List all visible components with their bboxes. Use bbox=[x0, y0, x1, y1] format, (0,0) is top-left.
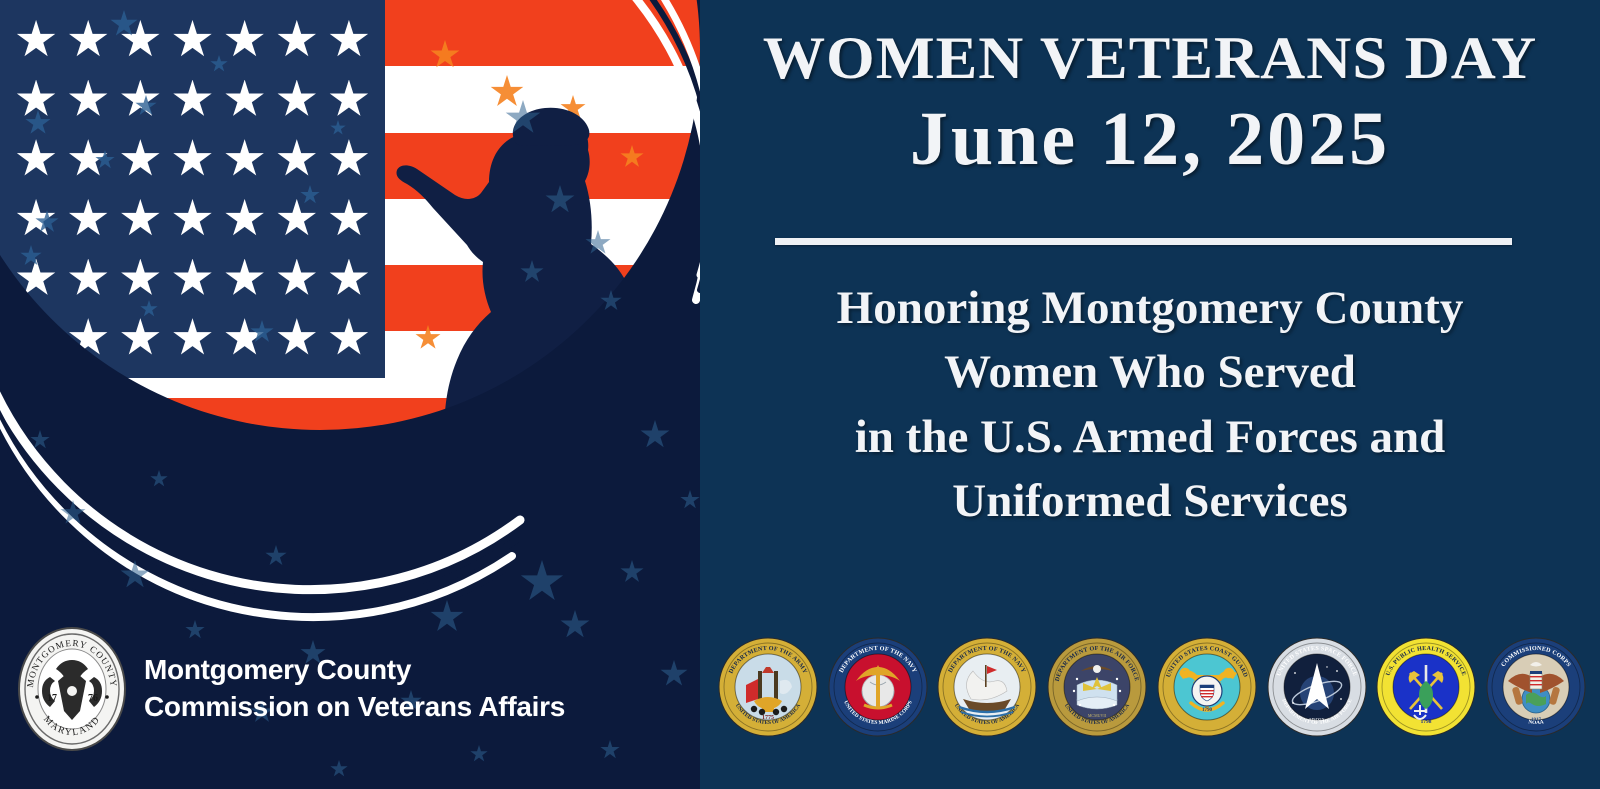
subheading: Honoring Montgomery County Women Who Ser… bbox=[710, 276, 1590, 534]
flag-star-icon bbox=[16, 139, 56, 179]
seal-coast-guard-icon: UNITED STATES COAST GUARD 1790 bbox=[1157, 637, 1257, 737]
flag-star-icon bbox=[68, 20, 108, 60]
event-date: June 12, 2025 bbox=[700, 96, 1600, 183]
ghost-star-icon bbox=[25, 110, 51, 136]
flag-star-icon bbox=[68, 259, 108, 299]
horizontal-divider bbox=[775, 238, 1512, 245]
flag-star-icon bbox=[277, 139, 317, 179]
montgomery-county-branding: MONTGOMERY COUNTY MARYLAND 17 76 bbox=[16, 625, 565, 753]
flag-star-icon bbox=[68, 80, 108, 120]
montgomery-county-seal-icon: MONTGOMERY COUNTY MARYLAND 17 76 bbox=[16, 625, 128, 753]
page-title: WOMEN VETERANS DAY bbox=[682, 24, 1600, 93]
ghost-star-icon bbox=[20, 245, 42, 267]
subheading-line-1: Honoring Montgomery County bbox=[710, 276, 1590, 340]
text-content-panel: WOMEN VETERANS DAY June 12, 2025 Honorin… bbox=[700, 0, 1600, 789]
flag-star-icon bbox=[277, 318, 317, 358]
ghost-star-icon bbox=[330, 120, 346, 136]
seal-public-health-service-icon: U.S. PUBLIC HEALTH SERVICE 1798 bbox=[1376, 637, 1476, 737]
flag-star-icon bbox=[173, 80, 213, 120]
svg-text:MMXIX: MMXIX bbox=[1309, 717, 1325, 722]
ghost-star-icon bbox=[300, 185, 320, 205]
flag-star-icon bbox=[277, 259, 317, 299]
flag-star-icon bbox=[68, 199, 108, 239]
svg-text:MCMUVII: MCMUVII bbox=[1088, 713, 1107, 718]
women-veterans-day-banner: MONTGOMERY COUNTY MARYLAND 17 76 bbox=[0, 0, 1600, 789]
decorative-star-icon bbox=[330, 760, 348, 778]
flag-star-icon bbox=[120, 318, 160, 358]
flag-star-icon bbox=[329, 80, 369, 120]
flag-star-icon bbox=[329, 139, 369, 179]
flag-star-icon bbox=[173, 259, 213, 299]
seal-year-left: 17 bbox=[47, 693, 57, 704]
flag-star-icon bbox=[277, 80, 317, 120]
seal-army-icon: DEPARTMENT OF THE ARMYUNITED STATES OF A… bbox=[718, 637, 818, 737]
flag-star-icon bbox=[173, 20, 213, 60]
svg-text:1775: 1775 bbox=[762, 715, 774, 721]
ghost-star-icon bbox=[110, 10, 138, 38]
decorative-star-icon bbox=[120, 560, 150, 590]
seal-air-force-icon: DEPARTMENT OF THE AIR FORCEUNITED STATES… bbox=[1047, 637, 1147, 737]
flag-star-icon bbox=[225, 199, 265, 239]
flag-star-icon bbox=[329, 259, 369, 299]
flag-star-icon bbox=[120, 259, 160, 299]
flag-artwork-panel: MONTGOMERY COUNTY MARYLAND 17 76 bbox=[0, 0, 700, 789]
decorative-star-icon bbox=[660, 660, 688, 688]
military-service-seals-row: DEPARTMENT OF THE ARMYUNITED STATES OF A… bbox=[718, 637, 1586, 737]
seal-navy-icon: DEPARTMENT OF THE NAVYUNITED STATES OF A… bbox=[937, 637, 1037, 737]
decorative-star-icon bbox=[620, 560, 644, 584]
subheading-line-3: in the U.S. Armed Forces and bbox=[710, 405, 1590, 469]
decorative-star-icon bbox=[600, 740, 620, 760]
flag-star-icon bbox=[120, 199, 160, 239]
ghost-star-icon bbox=[60, 340, 80, 360]
flag-star-icon bbox=[329, 199, 369, 239]
ghost-star-icon bbox=[210, 55, 228, 73]
seal-marine-corps-icon: DEPARTMENT OF THE NAVYUNITED STATES MARI… bbox=[828, 637, 928, 737]
flag-star-icon bbox=[277, 20, 317, 60]
ghost-star-icon bbox=[250, 320, 274, 344]
decorative-star-icon bbox=[520, 560, 564, 604]
flag-star-icon bbox=[225, 20, 265, 60]
svg-text:1798: 1798 bbox=[1421, 719, 1432, 725]
svg-text:1917: 1917 bbox=[1531, 718, 1542, 723]
ghost-star-icon bbox=[140, 300, 158, 318]
flag-star-icon bbox=[329, 20, 369, 60]
flag-star-icon bbox=[277, 199, 317, 239]
flag-star-icon bbox=[173, 139, 213, 179]
organization-name-line-2: Commission on Veterans Affairs bbox=[144, 689, 565, 726]
subheading-line-2: Women Who Served bbox=[710, 340, 1590, 404]
seal-space-force-icon: UNITED STATES SPACE FORCEDEPARTMENT OF T… bbox=[1267, 637, 1367, 737]
flag-star-icon bbox=[173, 199, 213, 239]
flag-star-icon bbox=[16, 20, 56, 60]
flag-star-icon bbox=[120, 139, 160, 179]
subheading-line-4: Uniformed Services bbox=[710, 469, 1590, 533]
flag-canton bbox=[0, 0, 385, 378]
flag-star-icon bbox=[225, 259, 265, 299]
flag-star-icon bbox=[16, 318, 56, 358]
flag-star-icon bbox=[16, 80, 56, 120]
organization-name: Montgomery County Commission on Veterans… bbox=[144, 652, 565, 726]
flag-star-icon bbox=[173, 318, 213, 358]
organization-name-line-1: Montgomery County bbox=[144, 652, 565, 689]
flag-star-icon bbox=[225, 139, 265, 179]
seal-year-right: 76 bbox=[88, 693, 98, 704]
decorative-star-icon bbox=[265, 545, 287, 567]
flag-star-icon bbox=[225, 80, 265, 120]
flag-star-icon bbox=[68, 318, 108, 358]
flag-star-icon bbox=[16, 259, 56, 299]
us-flag-graphic bbox=[0, 0, 700, 530]
seal-noaa-commissioned-corps-icon: COMMISSIONED CORPSNOAA 1917 bbox=[1486, 637, 1586, 737]
svg-text:1790: 1790 bbox=[1202, 708, 1213, 713]
flag-star-icon bbox=[329, 318, 369, 358]
